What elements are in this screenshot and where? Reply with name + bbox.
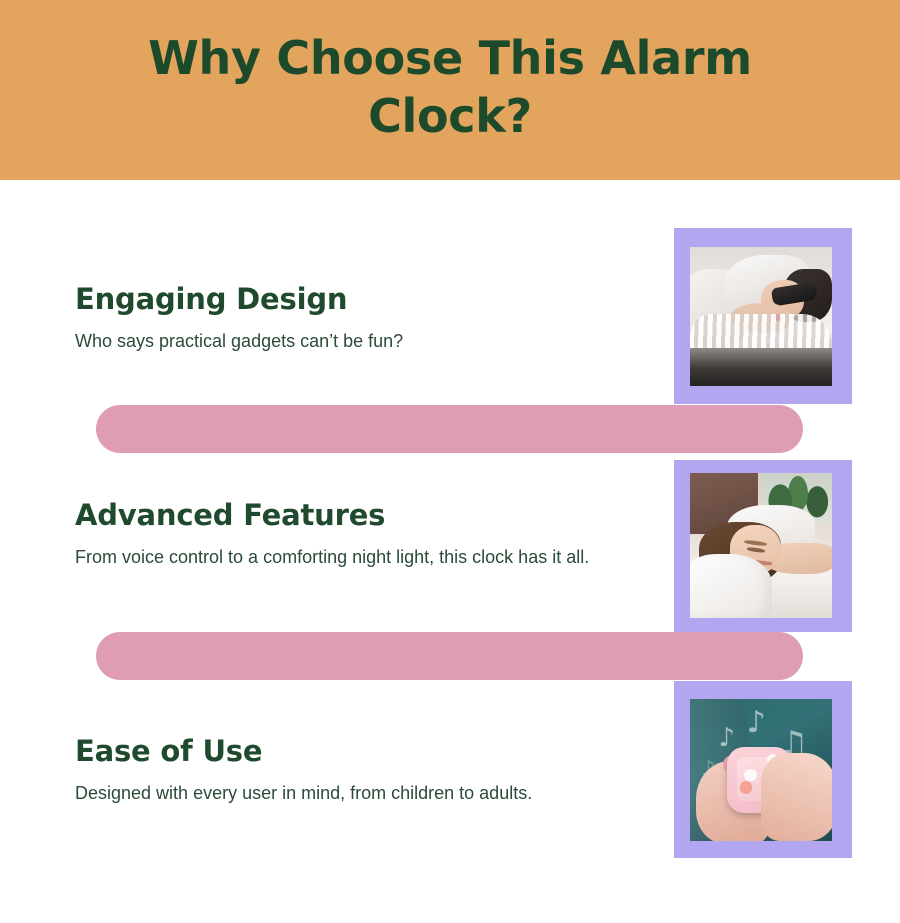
divider-bar-2 bbox=[96, 632, 803, 680]
feature-image-ease-of-use: ♪ ♫ ♪ ♪ ♪ bbox=[690, 699, 832, 841]
feature-block-ease-of-use: Ease of Use Designed with every user in … bbox=[75, 736, 635, 808]
dark-foreground bbox=[690, 348, 832, 386]
music-note-icon: ♪ bbox=[718, 725, 735, 751]
clock-eye-left bbox=[744, 769, 757, 782]
pillow-front bbox=[690, 554, 772, 618]
feature-heading: Ease of Use bbox=[75, 736, 635, 766]
music-note-icon: ♪ bbox=[747, 708, 766, 738]
divider-bar-1 bbox=[96, 405, 803, 453]
page-title: Why Choose This Alarm Clock? bbox=[80, 30, 820, 150]
feature-description: Designed with every user in mind, from c… bbox=[75, 780, 623, 807]
feature-image-advanced-features bbox=[690, 473, 832, 618]
feature-heading: Engaging Design bbox=[75, 284, 635, 314]
hand-right bbox=[761, 753, 832, 841]
feature-heading: Advanced Features bbox=[75, 500, 635, 530]
feature-block-engaging-design: Engaging Design Who says practical gadge… bbox=[75, 284, 635, 356]
feature-block-advanced-features: Advanced Features From voice control to … bbox=[75, 500, 635, 572]
feature-description: Who says practical gadgets can’t be fun? bbox=[75, 328, 623, 355]
header-banner: Why Choose This Alarm Clock? bbox=[0, 0, 900, 180]
feature-description: From voice control to a comforting night… bbox=[75, 544, 623, 571]
feature-image-engaging-design bbox=[690, 247, 832, 386]
